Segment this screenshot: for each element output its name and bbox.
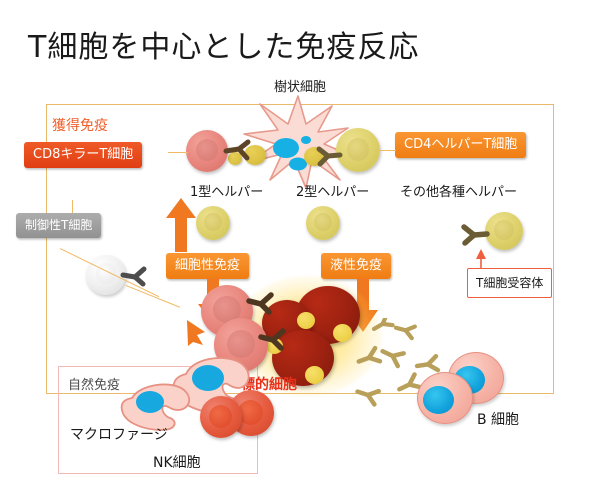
killer-attack-arrow (183, 318, 209, 348)
helper-t-cell-type1-lower (196, 206, 230, 240)
t-cell-receptor-icon (222, 138, 252, 164)
helper-t-cell-type2-lower (306, 206, 340, 240)
tcr-pointer-arrow (474, 248, 488, 270)
antigen-dot-icon (297, 312, 315, 329)
chip-cellular-immunity[interactable]: 細胞性免疫 (166, 253, 249, 279)
t-cell-receptor-icon (316, 145, 344, 169)
connector-line (72, 200, 73, 213)
innate-immunity-label: 自然免疫 (68, 374, 120, 393)
b-cell (417, 372, 473, 424)
t-cell-receptor-icon (459, 222, 491, 248)
helper-other-label: その他各種ヘルパー (400, 181, 517, 200)
t-cell-receptor-icon (246, 290, 276, 316)
cellular-immunity-up-arrow (164, 196, 198, 254)
chip-humoral-immunity[interactable]: 液性免疫 (321, 253, 391, 279)
connector-line (380, 150, 396, 151)
acquired-immunity-label: 獲得免疫 (52, 115, 108, 135)
antigen-dot-icon (305, 366, 324, 384)
chip-cd8-killer-t-cell[interactable]: CD8キラーT細胞 (24, 142, 142, 168)
t-cell-receptor-icon (258, 326, 288, 352)
antibody-group (368, 318, 428, 348)
diagram-canvas: T細胞を中心とした免疫反応 獲得免疫 自然免疫 樹状細胞 CD8キラーT細胞 (0, 0, 600, 485)
helper-type1-label: 1型ヘルパー (190, 181, 263, 200)
page-title: T細胞を中心とした免疫反応 (28, 22, 419, 66)
macrophage-label: マクロファージ (70, 424, 168, 444)
chip-regulatory-t-cell[interactable]: 制御性T細胞 (16, 213, 101, 238)
nk-cell-label: NK細胞 (153, 452, 201, 472)
helper-type2-label: 2型ヘルパー (296, 181, 369, 200)
connector-line (168, 152, 188, 153)
chip-cd4-helper-t-cell[interactable]: CD4ヘルパーT細胞 (395, 132, 526, 158)
chip-t-cell-receptor[interactable]: T細胞受容体 (467, 268, 552, 298)
b-cell-label: B 細胞 (477, 409, 519, 429)
antigen-dot-icon (333, 324, 352, 342)
nk-cell (200, 396, 242, 438)
